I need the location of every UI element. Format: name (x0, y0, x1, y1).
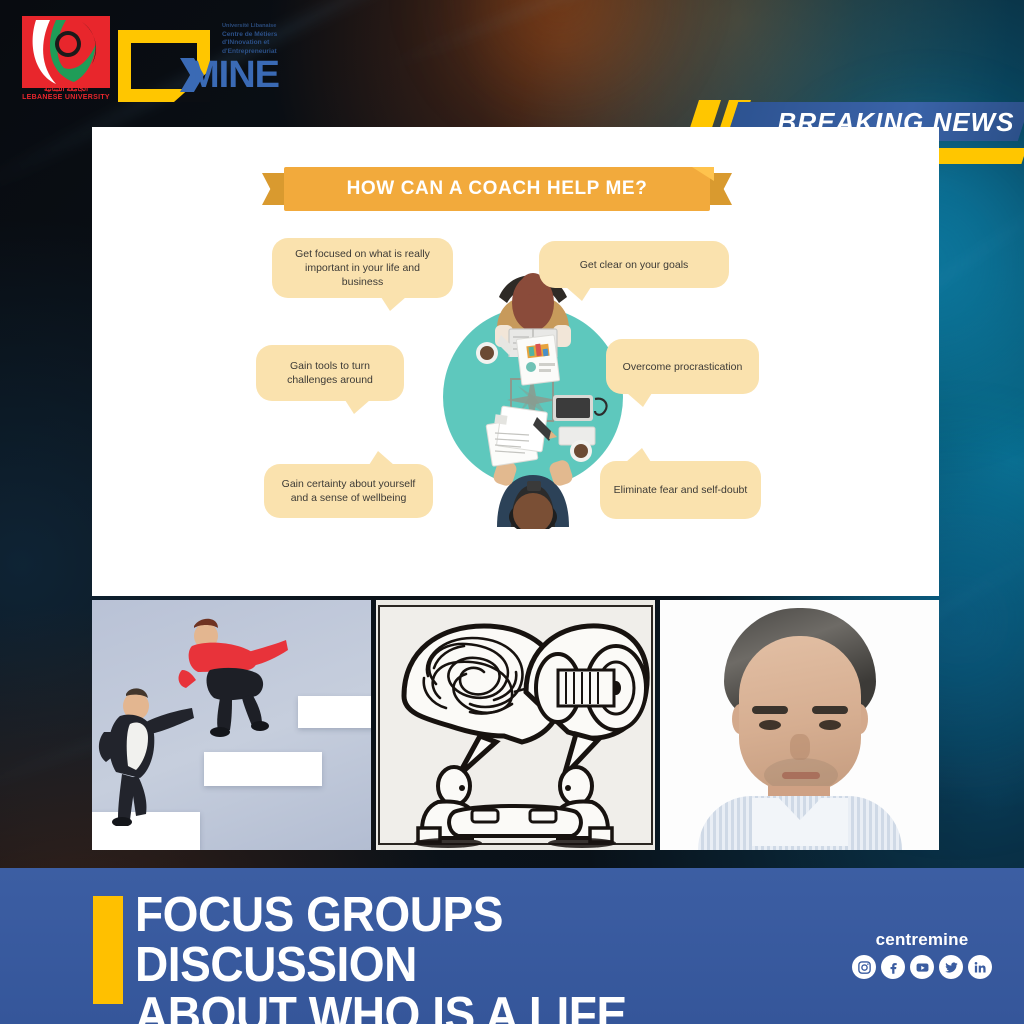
portrait-brow-left (752, 706, 788, 714)
bubble-tail (381, 297, 406, 311)
university-name-ar: الجامعة اللبنانية (18, 86, 114, 94)
linkedin-icon[interactable] (968, 955, 992, 979)
logo-lockup[interactable]: الجامعة اللبنانية LEBANESE UNIVERSITY MI… (18, 14, 290, 106)
mine-subtitle-line-1: Université Libanaise (222, 22, 308, 31)
bubble-procrastination: Overcome procrastication (606, 339, 759, 394)
photo-tangled-vs-spool (376, 600, 655, 850)
social-handle: centremine (852, 930, 992, 950)
stair-step (204, 752, 322, 786)
mine-subtitle-line-4: d'Entrepreneuriat (222, 48, 308, 57)
portrait-brow-right (812, 706, 848, 714)
coaching-sketch (376, 600, 655, 850)
mine-subtitle-line-2: Centre de Métiers (222, 31, 308, 40)
bubble-fear: Eliminate fear and self-doubt (600, 461, 761, 519)
stair-step (298, 696, 371, 728)
bubble-tail (626, 448, 651, 462)
portrait-nose (790, 734, 810, 760)
bubble-tail (627, 393, 652, 407)
slide-title: HOW CAN A COACH HELP ME? (284, 167, 710, 211)
facebook-icon[interactable] (881, 955, 905, 979)
portrait-eye-left (759, 720, 781, 730)
bubble-goals: Get clear on your goals (539, 241, 729, 288)
mine-logo: MINE Université Libanaise Centre de Méti… (118, 16, 290, 106)
bubble-tail (369, 451, 394, 465)
portrait-eye-right (819, 720, 841, 730)
poster-canvas: الجامعة اللبنانية LEBANESE UNIVERSITY MI… (0, 0, 1024, 1024)
helper-person-figure (174, 614, 302, 740)
bubble-tail (566, 287, 591, 301)
mine-subtitle-line-3: d'INnovation et (222, 39, 308, 48)
lebanese-university-logo: الجامعة اللبنانية LEBANESE UNIVERSITY (18, 14, 114, 106)
slide-panel: HOW CAN A COACH HELP ME? (92, 127, 939, 596)
twitter-icon[interactable] (939, 955, 963, 979)
lebanese-university-caption: الجامعة اللبنانية LEBANESE UNIVERSITY (18, 86, 114, 102)
bubble-text: Gain tools to turn challenges around (268, 359, 392, 387)
bubble-focus: Get focused on what is really important … (272, 238, 453, 298)
bubble-tail (345, 400, 370, 414)
bubble-text: Get focused on what is really important … (284, 247, 441, 289)
photo-helping-hand (92, 600, 371, 850)
slide-title-ribbon: HOW CAN A COACH HELP ME? (262, 167, 732, 211)
bubble-tools: Gain tools to turn challenges around (256, 345, 404, 401)
photo-speaker-portrait (660, 600, 939, 850)
bubble-text: Overcome procrastication (623, 360, 743, 374)
bubble-text: Get clear on your goals (580, 258, 689, 272)
footer-headline-line-2: ABOUT WHO IS A LIFE COACH (135, 990, 784, 1024)
footer-accent-bar (93, 896, 123, 1004)
footer-headline-line-1: FOCUS GROUPS DISCUSSION (135, 890, 784, 990)
table-items-bottom (465, 393, 615, 467)
portrait-mouth (782, 772, 820, 779)
bubble-text: Gain certainty about yourself and a sens… (276, 477, 421, 505)
table-items-top (473, 333, 593, 389)
youtube-icon[interactable] (910, 955, 934, 979)
logo-swoosh-icon (22, 16, 110, 88)
social-links (846, 955, 998, 979)
instagram-icon[interactable] (852, 955, 876, 979)
photo-strip (92, 600, 939, 850)
university-name-en: LEBANESE UNIVERSITY (22, 94, 110, 101)
bubble-certainty: Gain certainty about yourself and a sens… (264, 464, 433, 518)
mine-wordmark: MINE (188, 56, 279, 94)
mine-subtitle: Université Libanaise Centre de Métiers d… (222, 22, 308, 56)
footer-headline: FOCUS GROUPS DISCUSSION ABOUT WHO IS A L… (135, 890, 784, 1024)
bubble-text: Eliminate fear and self-doubt (614, 483, 748, 497)
